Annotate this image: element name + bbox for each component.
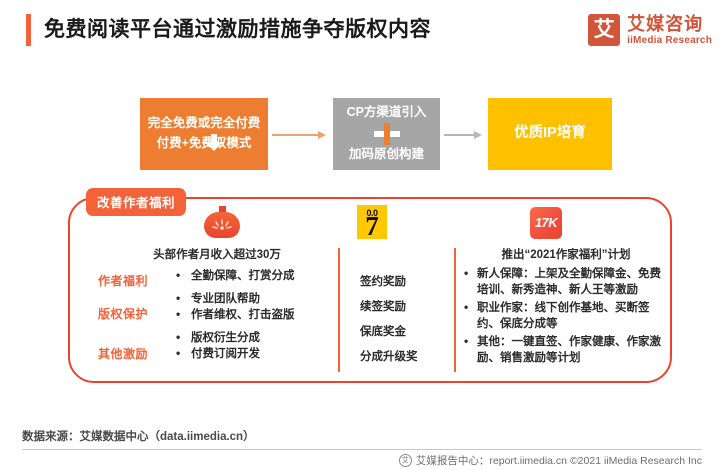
- 17k-logo-text: 17K: [530, 207, 562, 239]
- column-2-list: 签约奖励 续签奖励 保底奖金 分成升级奖: [352, 270, 452, 370]
- title-accent-bar: [26, 14, 31, 46]
- list-item: 作者维权、打击盗版: [174, 307, 334, 323]
- flow-box-quality-ip: 优质IP培育: [488, 98, 612, 170]
- brand-name-cn: 艾媒咨询: [627, 15, 712, 33]
- column-1-heading: 头部作者月收入超过30万: [104, 246, 330, 262]
- list-item: 付费订阅开发: [174, 346, 334, 362]
- brand-text: 艾媒咨询 iiMedia Research: [627, 15, 712, 46]
- flow-box-line1: CP方渠道引入: [347, 106, 427, 120]
- flow-box-cp-channel: CP方渠道引入 加码原创构建: [333, 98, 440, 170]
- brand-name-en: iiMedia Research: [627, 36, 712, 46]
- seven-cats-logo-icon: 0.0 7: [357, 205, 387, 239]
- data-source-text: 数据来源：艾媒数据中心（data.iimedia.cn）: [22, 428, 255, 444]
- column-divider-1: [338, 248, 340, 372]
- side-label-other-incentives: 其他激励: [98, 345, 148, 362]
- list-item: 分成升级奖: [352, 345, 452, 370]
- footer-note-text: 艾媒报告中心：report.iimedia.cn ©2021 iiMedia R…: [416, 453, 702, 468]
- column-3-bullet-list: 新人保障：上架及全勤保障金、免费培训、新秀造神、新人王等激励 职业作家：线下创作…: [462, 266, 668, 368]
- seven-cats-number: 7: [357, 213, 387, 239]
- list-item: 签约奖励: [352, 270, 452, 295]
- list-item: 新人保障：上架及全勤保障金、免费培训、新秀造神、新人王等激励: [462, 266, 668, 298]
- list-item: 保底奖金: [352, 320, 452, 345]
- flow-arrow-2-icon: [444, 131, 484, 139]
- side-label-author-welfare: 作者福利: [98, 272, 148, 289]
- footer-note: 艾 艾媒报告中心：report.iimedia.cn ©2021 iiMedia…: [399, 453, 702, 468]
- list-item: 职业作家：线下创作基地、买断签约、保底分成等: [462, 300, 668, 332]
- list-item: 续签奖励: [352, 295, 452, 320]
- brand-logo: 艾 艾媒咨询 iiMedia Research: [588, 14, 712, 46]
- panel-tab-label: 改善作者福利: [86, 188, 186, 216]
- list-item: 其他：一键直签、作家健康、作家激励、销售激励等计划: [462, 334, 668, 366]
- column-1-bullet-list: 全勤保障、打赏分成 专业团队帮助 作者维权、打击盗版 版权衍生分成 付费订阅开发: [174, 268, 334, 369]
- list-item: 版权衍生分成: [174, 330, 334, 346]
- list-item: 专业团队帮助: [174, 291, 334, 307]
- plus-sign-icon: [374, 123, 400, 145]
- flow-diagram: 完全免费或完全付费 付费+免费双模式 CP方渠道引入 加码原创构建 优质IP培育: [0, 98, 724, 174]
- flow-arrow-1-icon: [272, 131, 328, 139]
- column-3-heading: 推出“2021作家福利”计划: [462, 246, 670, 262]
- flow-box-free-paid-model: 完全免费或完全付费 付费+免费双模式: [140, 98, 268, 170]
- side-label-copyright-protection: 版权保护: [98, 305, 148, 322]
- tomato-novel-logo-icon: [204, 206, 240, 238]
- list-item: 全勤保障、打赏分成: [174, 268, 334, 284]
- brand-mark-icon: 艾: [588, 14, 620, 46]
- flow-box-line1: 优质IP培育: [514, 126, 586, 142]
- flow-box-line2: 加码原创构建: [349, 148, 424, 162]
- 17k-logo-icon: 17K: [530, 207, 562, 239]
- column-divider-2: [454, 248, 456, 372]
- footer-badge-icon: 艾: [399, 454, 412, 467]
- page-header: 免费阅读平台通过激励措施争夺版权内容 艾 艾媒咨询 iiMedia Resear…: [0, 0, 724, 62]
- page-title: 免费阅读平台通过激励措施争夺版权内容: [44, 13, 431, 43]
- footer-divider: [22, 449, 702, 450]
- flow-box-line1: 完全免费或完全付费: [148, 117, 261, 131]
